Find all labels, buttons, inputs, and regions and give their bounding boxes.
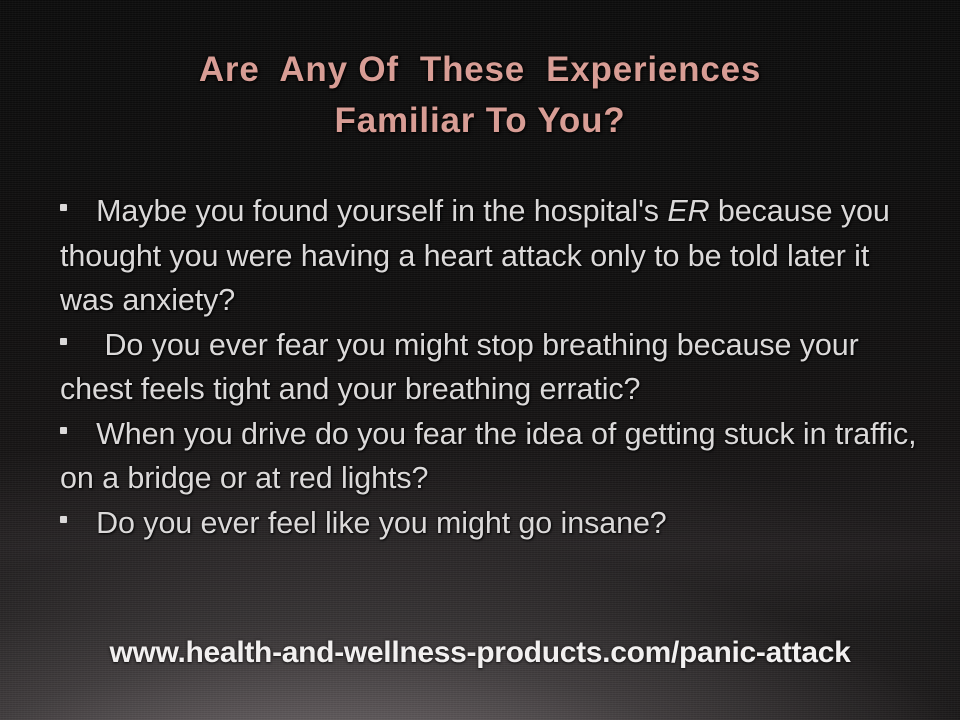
bullet-text-0-emphasis: ER: [667, 194, 709, 228]
page-title-line-1: Are Any Of These Experiences: [0, 44, 960, 95]
list-item: When you drive do you fear the idea of g…: [60, 412, 926, 501]
bullet-text-3: Do you ever feel like you might go insan…: [96, 506, 667, 540]
bullet-text-1: Do you ever fear you might stop breathin…: [60, 328, 859, 407]
bullet-list: Maybe you found yourself in the hospital…: [60, 189, 926, 545]
bullet-point-icon: [60, 427, 67, 434]
list-item: Do you ever feel like you might go insan…: [60, 501, 926, 546]
footer-url: www.health-and-wellness-products.com/pan…: [0, 636, 960, 670]
bullet-indent-2: [71, 417, 96, 451]
bullet-point-icon: [60, 338, 67, 345]
page-title-line-2: Familiar To You?: [0, 95, 960, 146]
bullet-point-icon: [60, 516, 67, 523]
list-item: Maybe you found yourself in the hospital…: [60, 189, 926, 323]
page-title: Are Any Of These Experiences Familiar To…: [0, 44, 960, 146]
bullet-indent-3: [71, 506, 96, 540]
bullet-text-0: Maybe you found yourself in the hospital…: [60, 194, 890, 317]
bullet-indent-1: [71, 328, 105, 362]
bullet-text-0-before: Maybe you found yourself in the hospital…: [96, 194, 667, 228]
bullet-point-icon: [60, 204, 67, 211]
bullet-indent-0: [71, 194, 96, 228]
list-item: Do you ever fear you might stop breathin…: [60, 323, 926, 412]
bullet-text-2: When you drive do you fear the idea of g…: [60, 417, 917, 496]
slide-canvas: Are Any Of These Experiences Familiar To…: [0, 0, 960, 720]
